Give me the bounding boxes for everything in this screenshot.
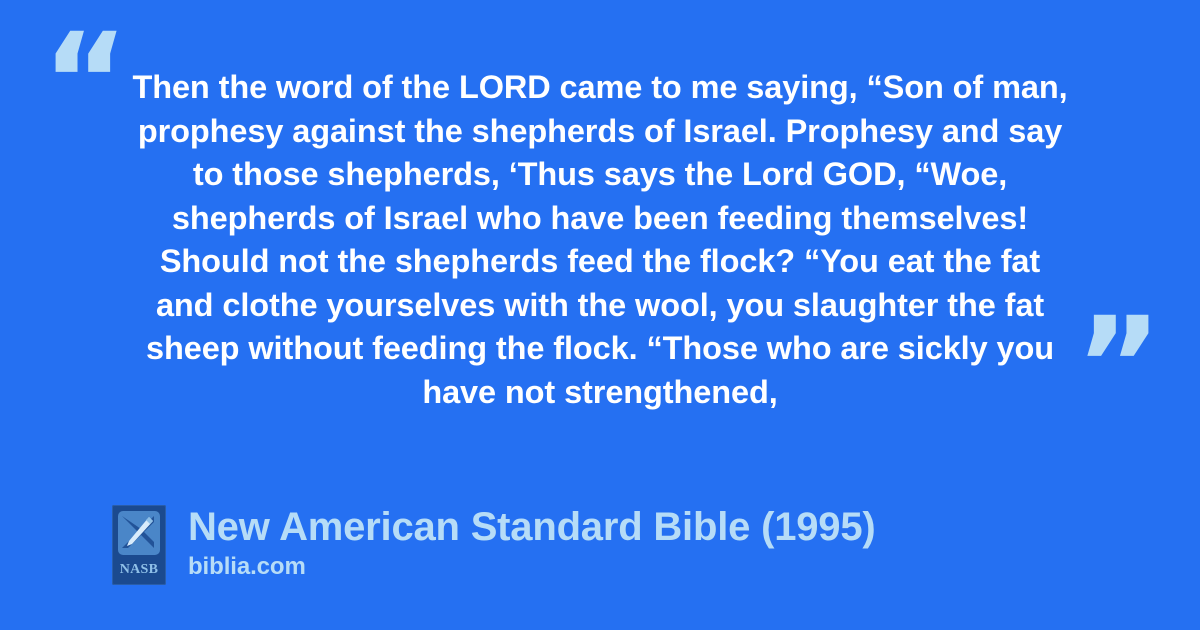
verse-line: to those shepherds, ‘Thus says the Lord … [120,153,1080,197]
quote-block: “ Then the word of the LORD came to me s… [0,0,1200,470]
close-quote-icon: ” [1075,300,1162,432]
nasb-logo-label: NASB [112,562,166,578]
verse-line: prophesy against the shepherds of Israel… [120,110,1080,154]
verse-line: Then the word of the LORD came to me say… [120,66,1080,110]
verse-line: have not strengthened, [120,371,1080,415]
verse-line: sheep without feeding the flock. “Those … [120,327,1080,371]
nasb-logo-icon: NASB [112,505,166,585]
nasb-logo-emblem [118,511,160,555]
bible-version-title: New American Standard Bible (1995) [188,503,876,551]
bible-verse-card: “ Then the word of the LORD came to me s… [0,0,1200,630]
attribution-footer: NASB New American Standard Bible (1995) … [112,503,876,585]
verse-line: Should not the shepherds feed the flock?… [120,240,1080,284]
verse-line: and clothe yourselves with the wool, you… [120,284,1080,328]
open-quote-icon: “ [42,16,129,148]
verse-line: shepherds of Israel who have been feedin… [120,197,1080,241]
attribution-text: New American Standard Bible (1995) bibli… [188,503,876,581]
verse-text: Then the word of the LORD came to me say… [120,66,1080,414]
site-url-label[interactable]: biblia.com [188,553,876,581]
